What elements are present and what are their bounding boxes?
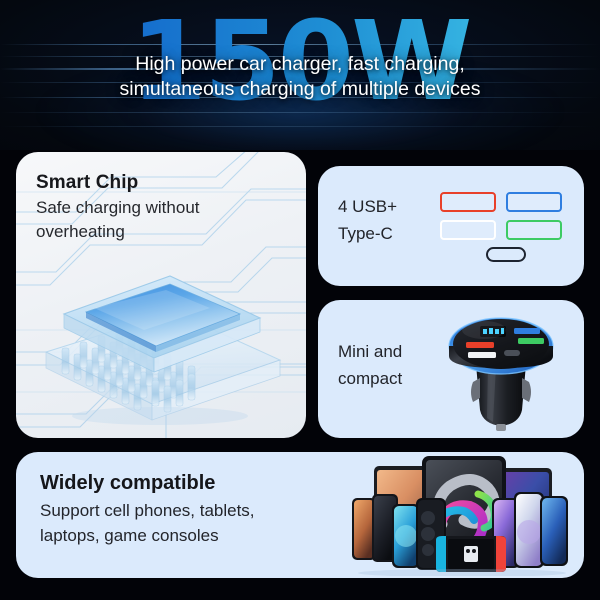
- phone-teal: [392, 504, 420, 568]
- usb-port-green: [506, 220, 562, 240]
- usb-port-blue: [506, 192, 562, 212]
- port-diagram: [440, 192, 568, 264]
- compatible-devices-collage: [350, 454, 584, 576]
- hero-banner: 150W High power car charger, fast chargi…: [0, 0, 600, 150]
- game-console-switch: [436, 536, 506, 572]
- mini-label-line-2: compact: [338, 365, 402, 392]
- hero-headline-line-2: simultaneous charging of multiple device…: [28, 77, 572, 102]
- smart-chip-subtitle: Safe charging without overheating: [36, 196, 286, 244]
- usb-card-label: 4 USB+ Type-C: [338, 193, 397, 247]
- usb-port-red: [440, 192, 496, 212]
- usb-label-line-1: 4 USB+: [338, 193, 397, 220]
- smart-chip-card: Smart Chip Safe charging without overhea…: [16, 152, 306, 438]
- compatible-subtitle: Support cell phones, tablets, laptops, g…: [40, 498, 360, 548]
- usb-port-white: [440, 220, 496, 240]
- compatible-subtitle-line-1: Support cell phones, tablets,: [40, 498, 360, 523]
- car-charger-illustration: [426, 306, 576, 432]
- mini-card-label: Mini and compact: [338, 338, 402, 392]
- type-c-port: [486, 247, 526, 262]
- mini-compact-card: Mini and compact: [318, 300, 584, 438]
- compatible-subtitle-line-2: laptops, game consoles: [40, 523, 360, 548]
- hero-headline-line-1: High power car charger, fast charging,: [28, 52, 572, 77]
- phone-blue: [540, 496, 568, 566]
- smart-chip-title: Smart Chip: [36, 172, 138, 194]
- usb-ports-card: 4 USB+ Type-C: [318, 166, 584, 286]
- widely-compatible-card: Widely compatible Support cell phones, t…: [16, 452, 584, 578]
- light-streak: [0, 126, 600, 127]
- hero-headline: High power car charger, fast charging, s…: [0, 52, 600, 102]
- phone-white: [514, 492, 544, 568]
- usb-label-line-2: Type-C: [338, 220, 397, 247]
- product-feature-page: 150W High power car charger, fast chargi…: [0, 0, 600, 600]
- compatible-title: Widely compatible: [40, 472, 215, 495]
- chip-illustration: [34, 256, 289, 428]
- mini-label-line-1: Mini and: [338, 338, 402, 365]
